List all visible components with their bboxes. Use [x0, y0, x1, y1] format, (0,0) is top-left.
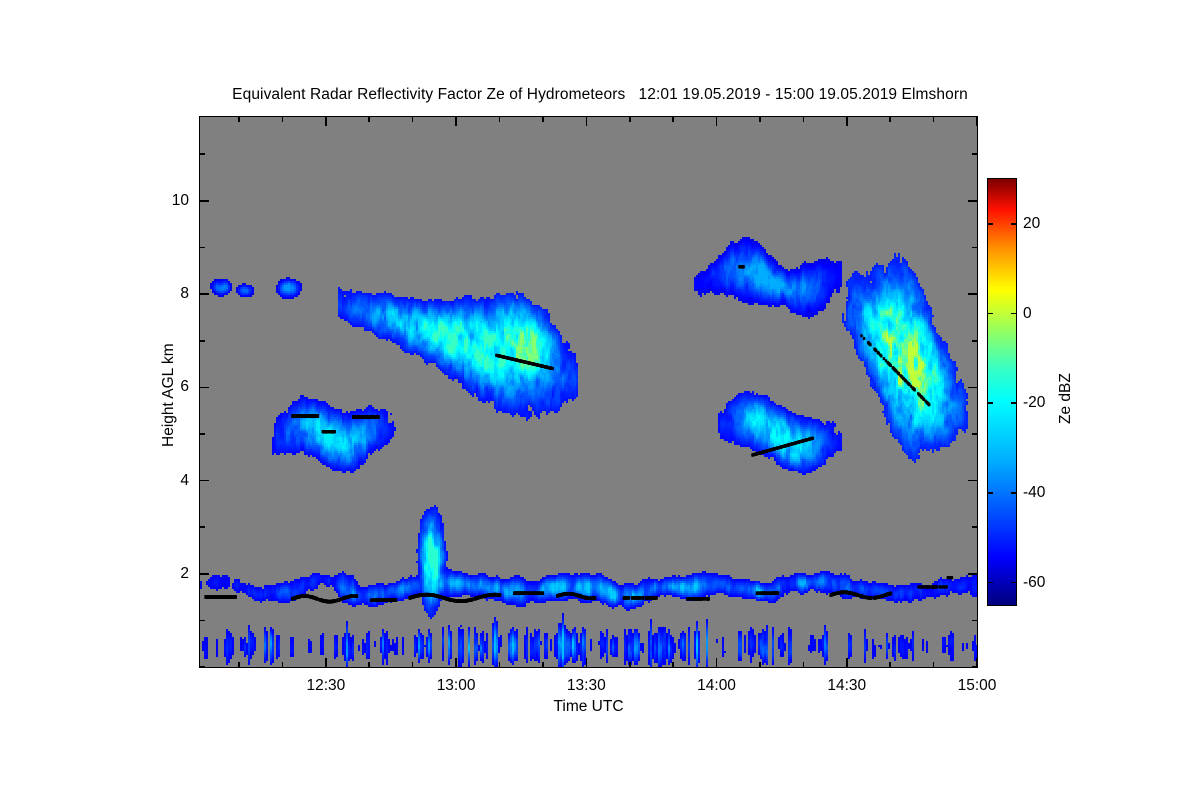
x-tick-label: 15:00 — [917, 678, 1037, 694]
x-tick — [716, 117, 718, 126]
y-tick — [972, 526, 977, 528]
x-tick-label: 12:30 — [266, 678, 386, 694]
x-tick-label: 13:00 — [396, 678, 516, 694]
x-tick — [672, 117, 674, 122]
y-tick — [200, 666, 205, 668]
x-tick — [542, 117, 544, 122]
y-tick — [972, 340, 977, 342]
x-tick — [586, 117, 588, 126]
colorbar-tick — [988, 492, 993, 494]
y-tick — [200, 153, 205, 155]
colorbar-tick — [988, 223, 993, 225]
y-tick — [968, 573, 977, 575]
colorbar-tick-label: 0 — [1023, 306, 1032, 322]
y-tick — [200, 200, 209, 202]
y-tick — [972, 620, 977, 622]
y-axis-title: Height AGL km — [160, 343, 178, 447]
x-tick — [412, 117, 414, 122]
x-axis-title: Time UTC — [199, 698, 978, 716]
x-tick — [889, 662, 891, 667]
radar-figure: Equivalent Radar Reflectivity Factor Ze … — [0, 0, 1200, 800]
colorbar-tick-label: -60 — [1023, 575, 1045, 591]
x-tick — [759, 662, 761, 667]
y-tick — [972, 247, 977, 249]
x-tick — [368, 662, 370, 667]
x-tick — [803, 117, 805, 122]
x-tick — [716, 658, 718, 667]
x-tick — [499, 117, 501, 122]
x-tick — [368, 117, 370, 122]
colorbar-tick — [988, 582, 993, 584]
x-tick — [499, 662, 501, 667]
colorbar-tick — [988, 313, 993, 315]
y-tick — [200, 620, 205, 622]
x-tick — [672, 662, 674, 667]
y-tick-label: 4 — [149, 473, 189, 489]
y-tick — [200, 433, 205, 435]
y-tick — [972, 153, 977, 155]
x-tick — [412, 662, 414, 667]
y-tick — [968, 480, 977, 482]
y-tick — [968, 293, 977, 295]
colorbar-tick-label: -40 — [1023, 485, 1045, 501]
y-tick-label: 10 — [149, 193, 189, 209]
y-tick — [200, 293, 209, 295]
x-tick — [455, 658, 457, 667]
x-tick-label: 14:30 — [787, 678, 907, 694]
colorbar-tick-label: 20 — [1023, 216, 1040, 232]
x-tick — [629, 117, 631, 122]
y-tick — [200, 340, 205, 342]
colorbar-title: Ze dBZ — [1057, 373, 1075, 424]
colorbar-gradient[interactable] — [988, 179, 1016, 605]
y-tick-label: 8 — [149, 286, 189, 302]
x-tick — [846, 658, 848, 667]
y-tick-label: 2 — [149, 566, 189, 582]
x-tick — [803, 662, 805, 667]
page-title: Equivalent Radar Reflectivity Factor Ze … — [0, 86, 1200, 104]
y-tick — [972, 666, 977, 668]
y-tick — [200, 573, 209, 575]
y-tick — [968, 387, 977, 389]
x-tick-label: 14:00 — [657, 678, 777, 694]
x-tick — [282, 662, 284, 667]
y-tick — [200, 387, 209, 389]
colorbar-tick — [1011, 402, 1016, 404]
y-tick — [972, 433, 977, 435]
x-tick — [325, 117, 327, 126]
colorbar-tick — [1011, 223, 1016, 225]
y-tick — [968, 200, 977, 202]
x-tick — [238, 117, 240, 122]
x-tick — [455, 117, 457, 126]
colorbar-tick-label: -20 — [1023, 395, 1045, 411]
x-tick — [238, 662, 240, 667]
colorbar-tick — [1011, 582, 1016, 584]
x-tick — [325, 658, 327, 667]
x-tick-label: 13:30 — [526, 678, 646, 694]
reflectivity-heatmap[interactable] — [200, 117, 977, 667]
y-tick — [200, 526, 205, 528]
x-tick — [846, 117, 848, 126]
x-tick — [282, 117, 284, 122]
colorbar-tick — [988, 402, 993, 404]
x-tick — [586, 658, 588, 667]
x-tick — [542, 662, 544, 667]
x-tick — [889, 117, 891, 122]
x-tick — [933, 117, 935, 122]
x-tick — [629, 662, 631, 667]
x-tick — [759, 117, 761, 122]
x-tick — [976, 117, 978, 126]
y-tick — [200, 480, 209, 482]
x-tick — [933, 662, 935, 667]
y-tick — [200, 247, 205, 249]
colorbar-tick — [1011, 313, 1016, 315]
colorbar-tick — [1011, 492, 1016, 494]
